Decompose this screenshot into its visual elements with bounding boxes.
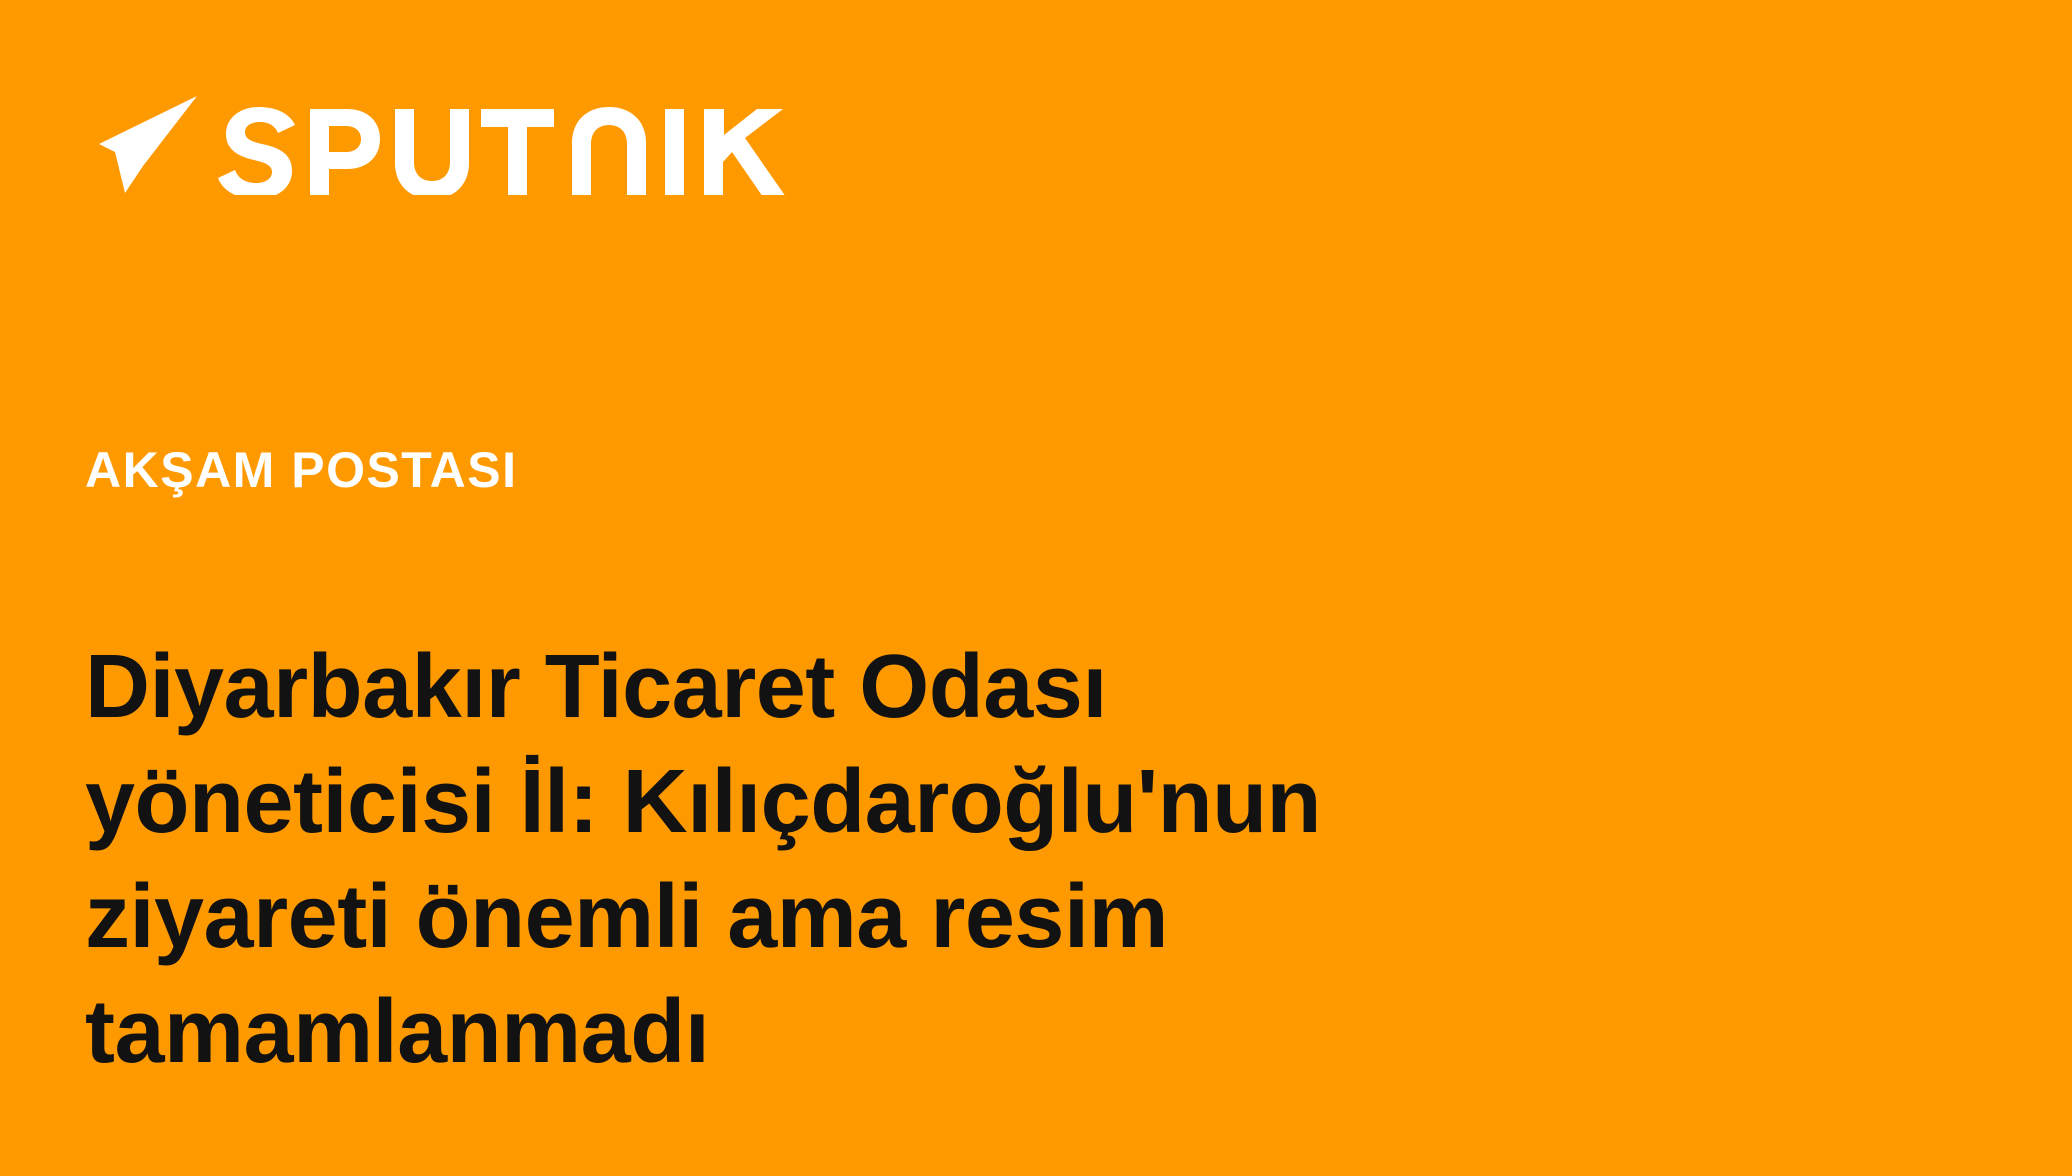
social-share-card: AKŞAM POSTASI Diyarbakır Ticaret Odası y… bbox=[0, 0, 2072, 1176]
sputnik-wordmark bbox=[215, 95, 815, 195]
headline: Diyarbakır Ticaret Odası yöneticisi İl: … bbox=[85, 630, 1845, 1090]
sputnik-logo[interactable] bbox=[85, 92, 815, 197]
headline-line-1: Diyarbakır Ticaret Odası bbox=[85, 630, 1845, 745]
section-kicker: AKŞAM POSTASI bbox=[85, 440, 518, 500]
headline-line-3: ziyareti önemli ama resim bbox=[85, 860, 1845, 975]
headline-line-2: yöneticisi İl: Kılıçdaroğlu'nun bbox=[85, 745, 1845, 860]
sputnik-arrow-icon bbox=[85, 92, 203, 197]
headline-line-4: tamamlanmadı bbox=[85, 975, 1845, 1090]
